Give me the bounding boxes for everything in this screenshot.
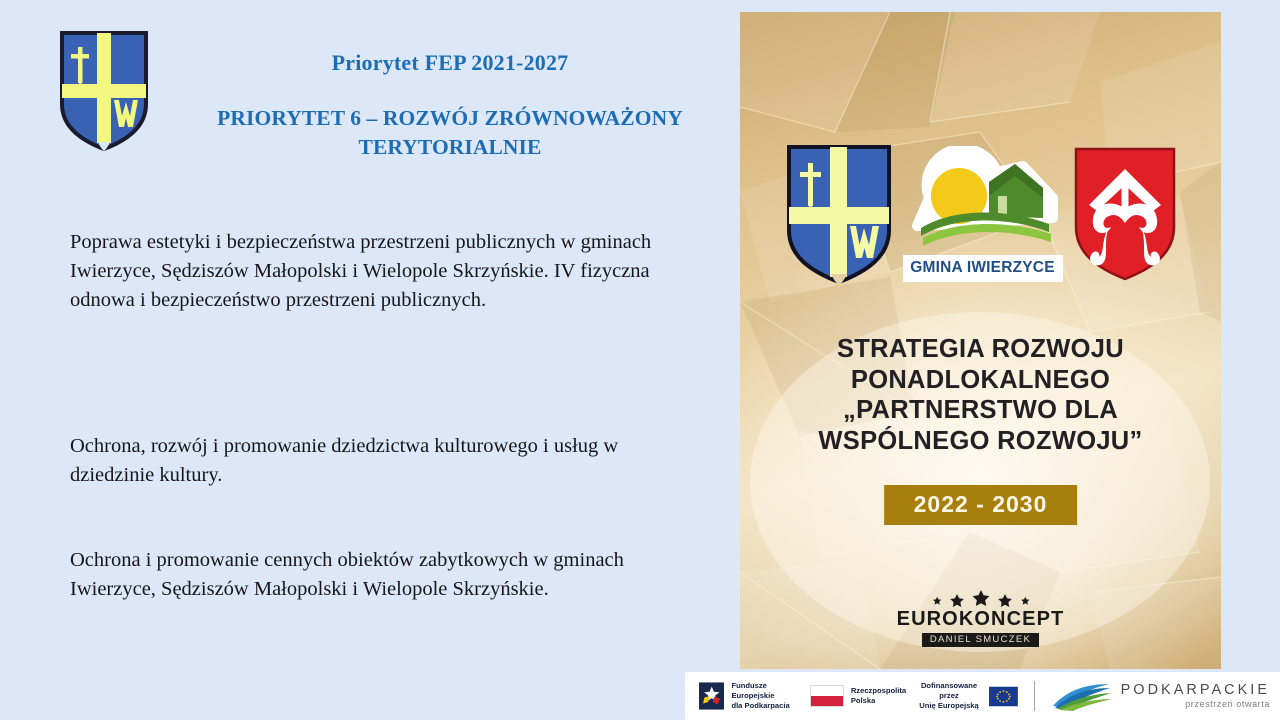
banner-divider xyxy=(1034,681,1035,711)
coat-of-arms-iwierzyce-icon xyxy=(58,30,150,152)
funding-label-unia-europejska: Dofinansowane przez Unię Europejską xyxy=(916,681,982,710)
podkarpackie-text: PODKARPACKIE przestrzeń otwarta xyxy=(1121,682,1270,709)
funding-label-fundusze-europejskie: Fundusze Europejskie dla Podkarpacia xyxy=(731,681,799,710)
publisher-person: DANIEL SMUCZEK xyxy=(922,633,1039,648)
cover-year-badge: 2022 - 2030 xyxy=(884,485,1078,525)
eu-funding-banner: Fundusze Europejskie dla Podkarpacia Rze… xyxy=(685,672,1280,720)
body-paragraph-3: Ochrona i promowanie cennych obiektów za… xyxy=(70,546,700,604)
podkarpackie-logo: PODKARPACKIE przestrzeń otwarta xyxy=(1051,681,1270,711)
gmina-iwierzyce-mark-icon xyxy=(903,146,1063,246)
cover-title: STRATEGIA ROZWOJU PONADLOKALNEGO „PARTNE… xyxy=(756,334,1205,456)
priority-title-line-2: TERYTORIALNIE xyxy=(359,135,542,159)
cover-title-line-1: STRATEGIA ROZWOJU xyxy=(756,334,1205,365)
left-content-column: Priorytet FEP 2021-2027 PRIORYTET 6 – RO… xyxy=(0,0,740,720)
coat-of-arms-sedziszow-icon xyxy=(1073,147,1177,283)
publisher-name: EUROKONCEPT xyxy=(881,609,1081,629)
publisher-stars-icon xyxy=(881,589,1081,607)
priority-title-line-1: PRIORYTET 6 – ROZWÓJ ZRÓWNOWAŻONY xyxy=(217,106,683,130)
cover-title-line-4: WSPÓLNEGO ROZWOJU” xyxy=(756,426,1205,457)
cover-logo-row: GMINA IWIERZYCE xyxy=(740,142,1221,287)
priority-title: PRIORYTET 6 – ROZWÓJ ZRÓWNOWAŻONY TERYTO… xyxy=(170,104,730,162)
funding-label-rzeczpospolita-polska: Rzeczpospolita Polska xyxy=(851,686,906,705)
cover-title-line-3: „PARTNERSTWO DLA xyxy=(756,395,1205,426)
body-paragraph-2: Ochrona, rozwój i promowanie dziedzictwa… xyxy=(70,432,700,490)
body-paragraph-1: Poprawa estetyki i bezpieczeństwa przest… xyxy=(70,228,700,315)
podkarpackie-mark-icon xyxy=(1051,681,1113,711)
podkarpackie-name: PODKARPACKIE xyxy=(1121,682,1270,698)
podkarpackie-tagline: przestrzeń otwarta xyxy=(1121,700,1270,709)
poland-flag-icon xyxy=(810,685,844,707)
slide-root: Priorytet FEP 2021-2027 PRIORYTET 6 – RO… xyxy=(0,0,1280,720)
gmina-iwierzyce-wordmark: GMINA IWIERZYCE xyxy=(903,255,1063,282)
priority-subtitle: Priorytet FEP 2021-2027 xyxy=(170,50,730,76)
heading-block: Priorytet FEP 2021-2027 PRIORYTET 6 – RO… xyxy=(170,50,730,162)
fundusze-europejskie-icon xyxy=(699,680,724,712)
funding-item-fundusze-europejskie: Fundusze Europejskie dla Podkarpacia xyxy=(699,680,800,712)
coat-of-arms-iwierzyce-cover-icon xyxy=(785,144,893,286)
strategy-document-cover: GMINA IWIERZYCE xyxy=(740,12,1221,669)
funding-item-unia-europejska: Dofinansowane przez Unię Europejską xyxy=(916,681,1018,710)
gmina-iwierzyce-logo: GMINA IWIERZYCE xyxy=(903,146,1063,284)
funding-item-rzeczpospolita-polska: Rzeczpospolita Polska xyxy=(810,685,906,707)
eu-flag-icon xyxy=(989,685,1018,708)
publisher-mark: EUROKONCEPT DANIEL SMUCZEK xyxy=(881,589,1081,648)
cover-title-line-2: PONADLOKALNEGO xyxy=(756,365,1205,396)
